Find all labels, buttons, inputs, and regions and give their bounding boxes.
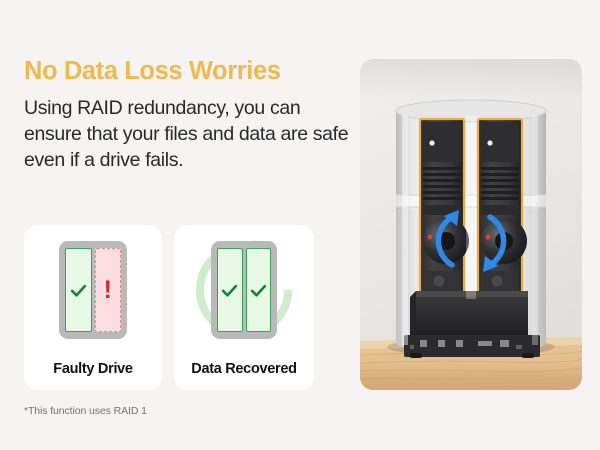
card-label-data-recovered: Data Recovered <box>174 361 314 377</box>
drive-enclosure <box>211 241 277 339</box>
drive-bay-healthy-2 <box>246 248 272 332</box>
promo-banner: No Data Loss Worries Using RAID redundan… <box>0 0 600 450</box>
footnote-text: *This function uses RAID 1 <box>24 405 147 417</box>
data-recovered-illustration <box>184 237 304 343</box>
card-data-recovered: Data Recovered <box>174 225 314 390</box>
drive-bay-healthy <box>65 248 92 332</box>
card-faulty-drive: ! Faulty Drive <box>24 225 162 390</box>
product-base <box>404 291 540 358</box>
drive-bay-failed: ! <box>95 248 122 332</box>
product-photo <box>360 59 582 390</box>
card-label-faulty-drive: Faulty Drive <box>24 361 162 377</box>
feature-card-group: ! Faulty Drive <box>24 225 314 390</box>
exclamation-icon: ! <box>104 278 112 303</box>
text-column: No Data Loss Worries Using RAID redundan… <box>24 57 350 174</box>
check-icon <box>69 281 88 300</box>
description-text: Using RAID redundancy, you can ensure th… <box>24 96 354 173</box>
drive-enclosure: ! <box>59 241 127 339</box>
product-illustration <box>360 59 582 390</box>
drive-bay-healthy-1 <box>217 248 243 332</box>
check-icon <box>220 281 239 300</box>
faulty-drive-illustration: ! <box>33 237 153 343</box>
page-title: No Data Loss Worries <box>24 57 350 86</box>
check-icon <box>249 281 268 300</box>
